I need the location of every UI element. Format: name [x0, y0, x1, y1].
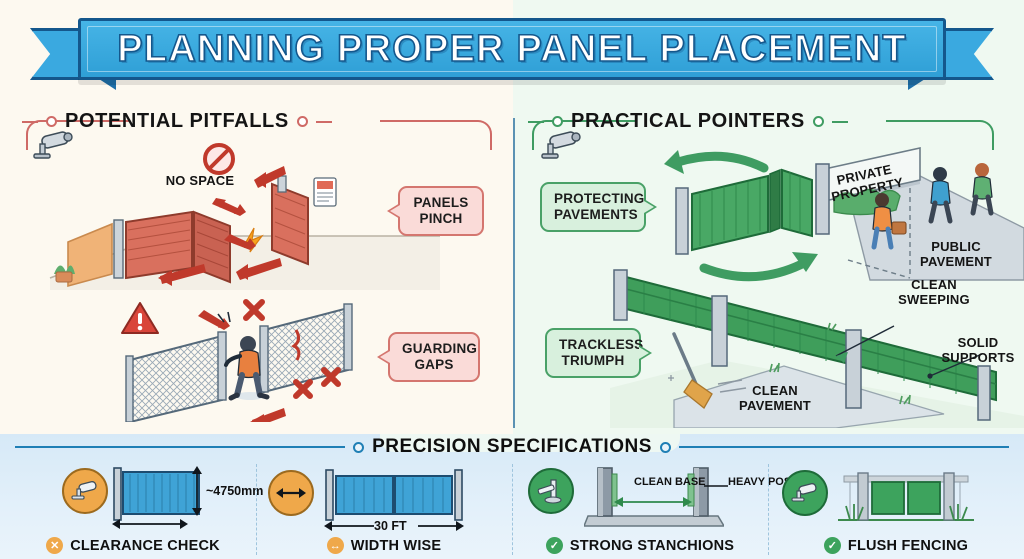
security-camera-icon-right: [538, 128, 586, 168]
callout-trackless-triumph-text: TRACKLESS TRIUMPH: [559, 337, 643, 368]
warning-triangle-icon: [120, 300, 160, 336]
section-header-specifications: PRECISION SPECIFICATIONS: [0, 436, 1024, 458]
title-ribbon: PLANNING PROPER PANEL PLACEMENT: [30, 18, 994, 84]
check-icon: ✓: [824, 537, 841, 554]
panel-divider: [513, 118, 515, 428]
spec-line-left: [15, 446, 345, 448]
security-camera-icon: [790, 480, 820, 506]
dimension-clean-base: CLEAN BASE: [634, 476, 690, 489]
header-line-right: [832, 121, 848, 123]
specifications-row: ~4750mm ✕ CLEARANCE CHECK: [0, 458, 1024, 559]
specifications-heading: PRECISION SPECIFICATIONS: [372, 436, 652, 458]
spec-label-clearance-check: CLEARANCE CHECK: [70, 538, 220, 554]
spec-footer-width: ↔ WIDTH WISE: [256, 537, 512, 554]
callout-guarding-gaps: GUARDING GAPS: [388, 332, 480, 382]
spec-card-width-wise[interactable]: 30 FT ↔ WIDTH WISE: [256, 458, 512, 559]
width-dimension-arrow: [112, 518, 188, 530]
label-solid-supports: SOLID SUPPORTS: [932, 336, 1024, 366]
security-camera-icon: [70, 478, 100, 504]
spec-badge-camera-green: [782, 470, 828, 516]
spec-dot-left: [353, 442, 364, 453]
spec-badge-camera: [62, 468, 108, 514]
spec-footer-clearance: ✕ CLEARANCE CHECK: [0, 537, 256, 554]
heavy-posts-leader-line: [704, 482, 728, 490]
header-dot-left: [552, 116, 563, 127]
dimension-clearance: ~4750mm: [206, 484, 263, 498]
gate-van-illustration: [40, 150, 440, 290]
spec-footer-stanchions: ✓ STRONG STANCHIONS: [512, 537, 768, 554]
pointer-scene-bifold-gate: PRIVATE PROPERTY PUBLIC PAVEMENT: [620, 140, 1024, 288]
callout-protecting-pavements-text: PROTECTING PAVEMENTS: [554, 191, 645, 222]
header-line-left: [22, 121, 38, 123]
callout-guarding-gaps-text: GUARDING GAPS: [402, 341, 477, 372]
header-dot-right: [297, 116, 308, 127]
spec-footer-flush: ✓ FLUSH FENCING: [768, 537, 1024, 554]
pointers-heading: PRACTICAL POINTERS: [571, 110, 805, 133]
ribbon-body: PLANNING PROPER PANEL PLACEMENT: [78, 18, 946, 80]
dimension-width: 30 FT: [374, 519, 407, 533]
spec-label-width-wise: WIDTH WISE: [351, 538, 442, 554]
no-entry-sign-icon: [202, 142, 236, 176]
header-dot-left: [46, 116, 57, 127]
post-base-icon: [536, 477, 566, 505]
header-line-left: [528, 121, 544, 123]
header-line-right: [316, 121, 332, 123]
callout-protecting-pavements: PROTECTING PAVEMENTS: [540, 182, 646, 232]
spec-label-strong-stanchions: STRONG STANCHIONS: [570, 538, 734, 554]
height-dimension-arrow: [190, 466, 204, 516]
infographic-page: PLANNING PROPER PANEL PLACEMENT POTENTIA…: [0, 0, 1024, 559]
pitfalls-heading: POTENTIAL PITFALLS: [65, 110, 289, 133]
spec-badge-post: [528, 468, 574, 514]
arrow-icon: ↔: [327, 537, 344, 554]
callout-panels-pinch-text: PANELS PINCH: [414, 195, 469, 226]
spec-line-right: [679, 446, 1009, 448]
pedestrian-3: [973, 163, 992, 213]
left-right-arrow-icon: [276, 485, 306, 501]
spec-label-flush-fencing: FLUSH FENCING: [848, 538, 968, 554]
label-no-space: NO SPACE: [155, 174, 245, 189]
header-dot-right: [813, 116, 824, 127]
pointer-scene-clean-fence: CLEAN SWEEPING SOLID SUPPORTS CLEAN PAVE…: [600, 268, 1024, 428]
page-title: PLANNING PROPER PANEL PLACEMENT: [117, 28, 907, 71]
width-gate-illustration: [324, 468, 464, 524]
spec-badge-width: [268, 470, 314, 516]
callout-trackless-triumph: TRACKLESS TRIUMPH: [545, 328, 641, 378]
check-icon: ✓: [546, 537, 563, 554]
spec-dot-right: [660, 442, 671, 453]
label-clean-pavement: CLEAN PAVEMENT: [720, 384, 830, 414]
callout-panels-pinch: PANELS PINCH: [398, 186, 484, 236]
clearance-gate-illustration: [112, 466, 202, 524]
spec-card-clearance-check[interactable]: ~4750mm ✕ CLEARANCE CHECK: [0, 458, 256, 559]
spec-card-flush-fencing[interactable]: ✓ FLUSH FENCING: [768, 458, 1024, 559]
pitfall-scene-gates-van: NO SPACE: [40, 150, 440, 290]
flush-fence-illustration: [836, 468, 976, 526]
label-clean-sweeping: CLEAN SWEEPING: [882, 278, 986, 308]
label-public-pavement: PUBLIC PAVEMENT: [906, 240, 1006, 270]
cross-icon: ✕: [46, 537, 63, 554]
spec-card-strong-stanchions[interactable]: CLEAN BASE HEAVY POSTS ✓ STRONG STANCHIO…: [512, 458, 768, 559]
